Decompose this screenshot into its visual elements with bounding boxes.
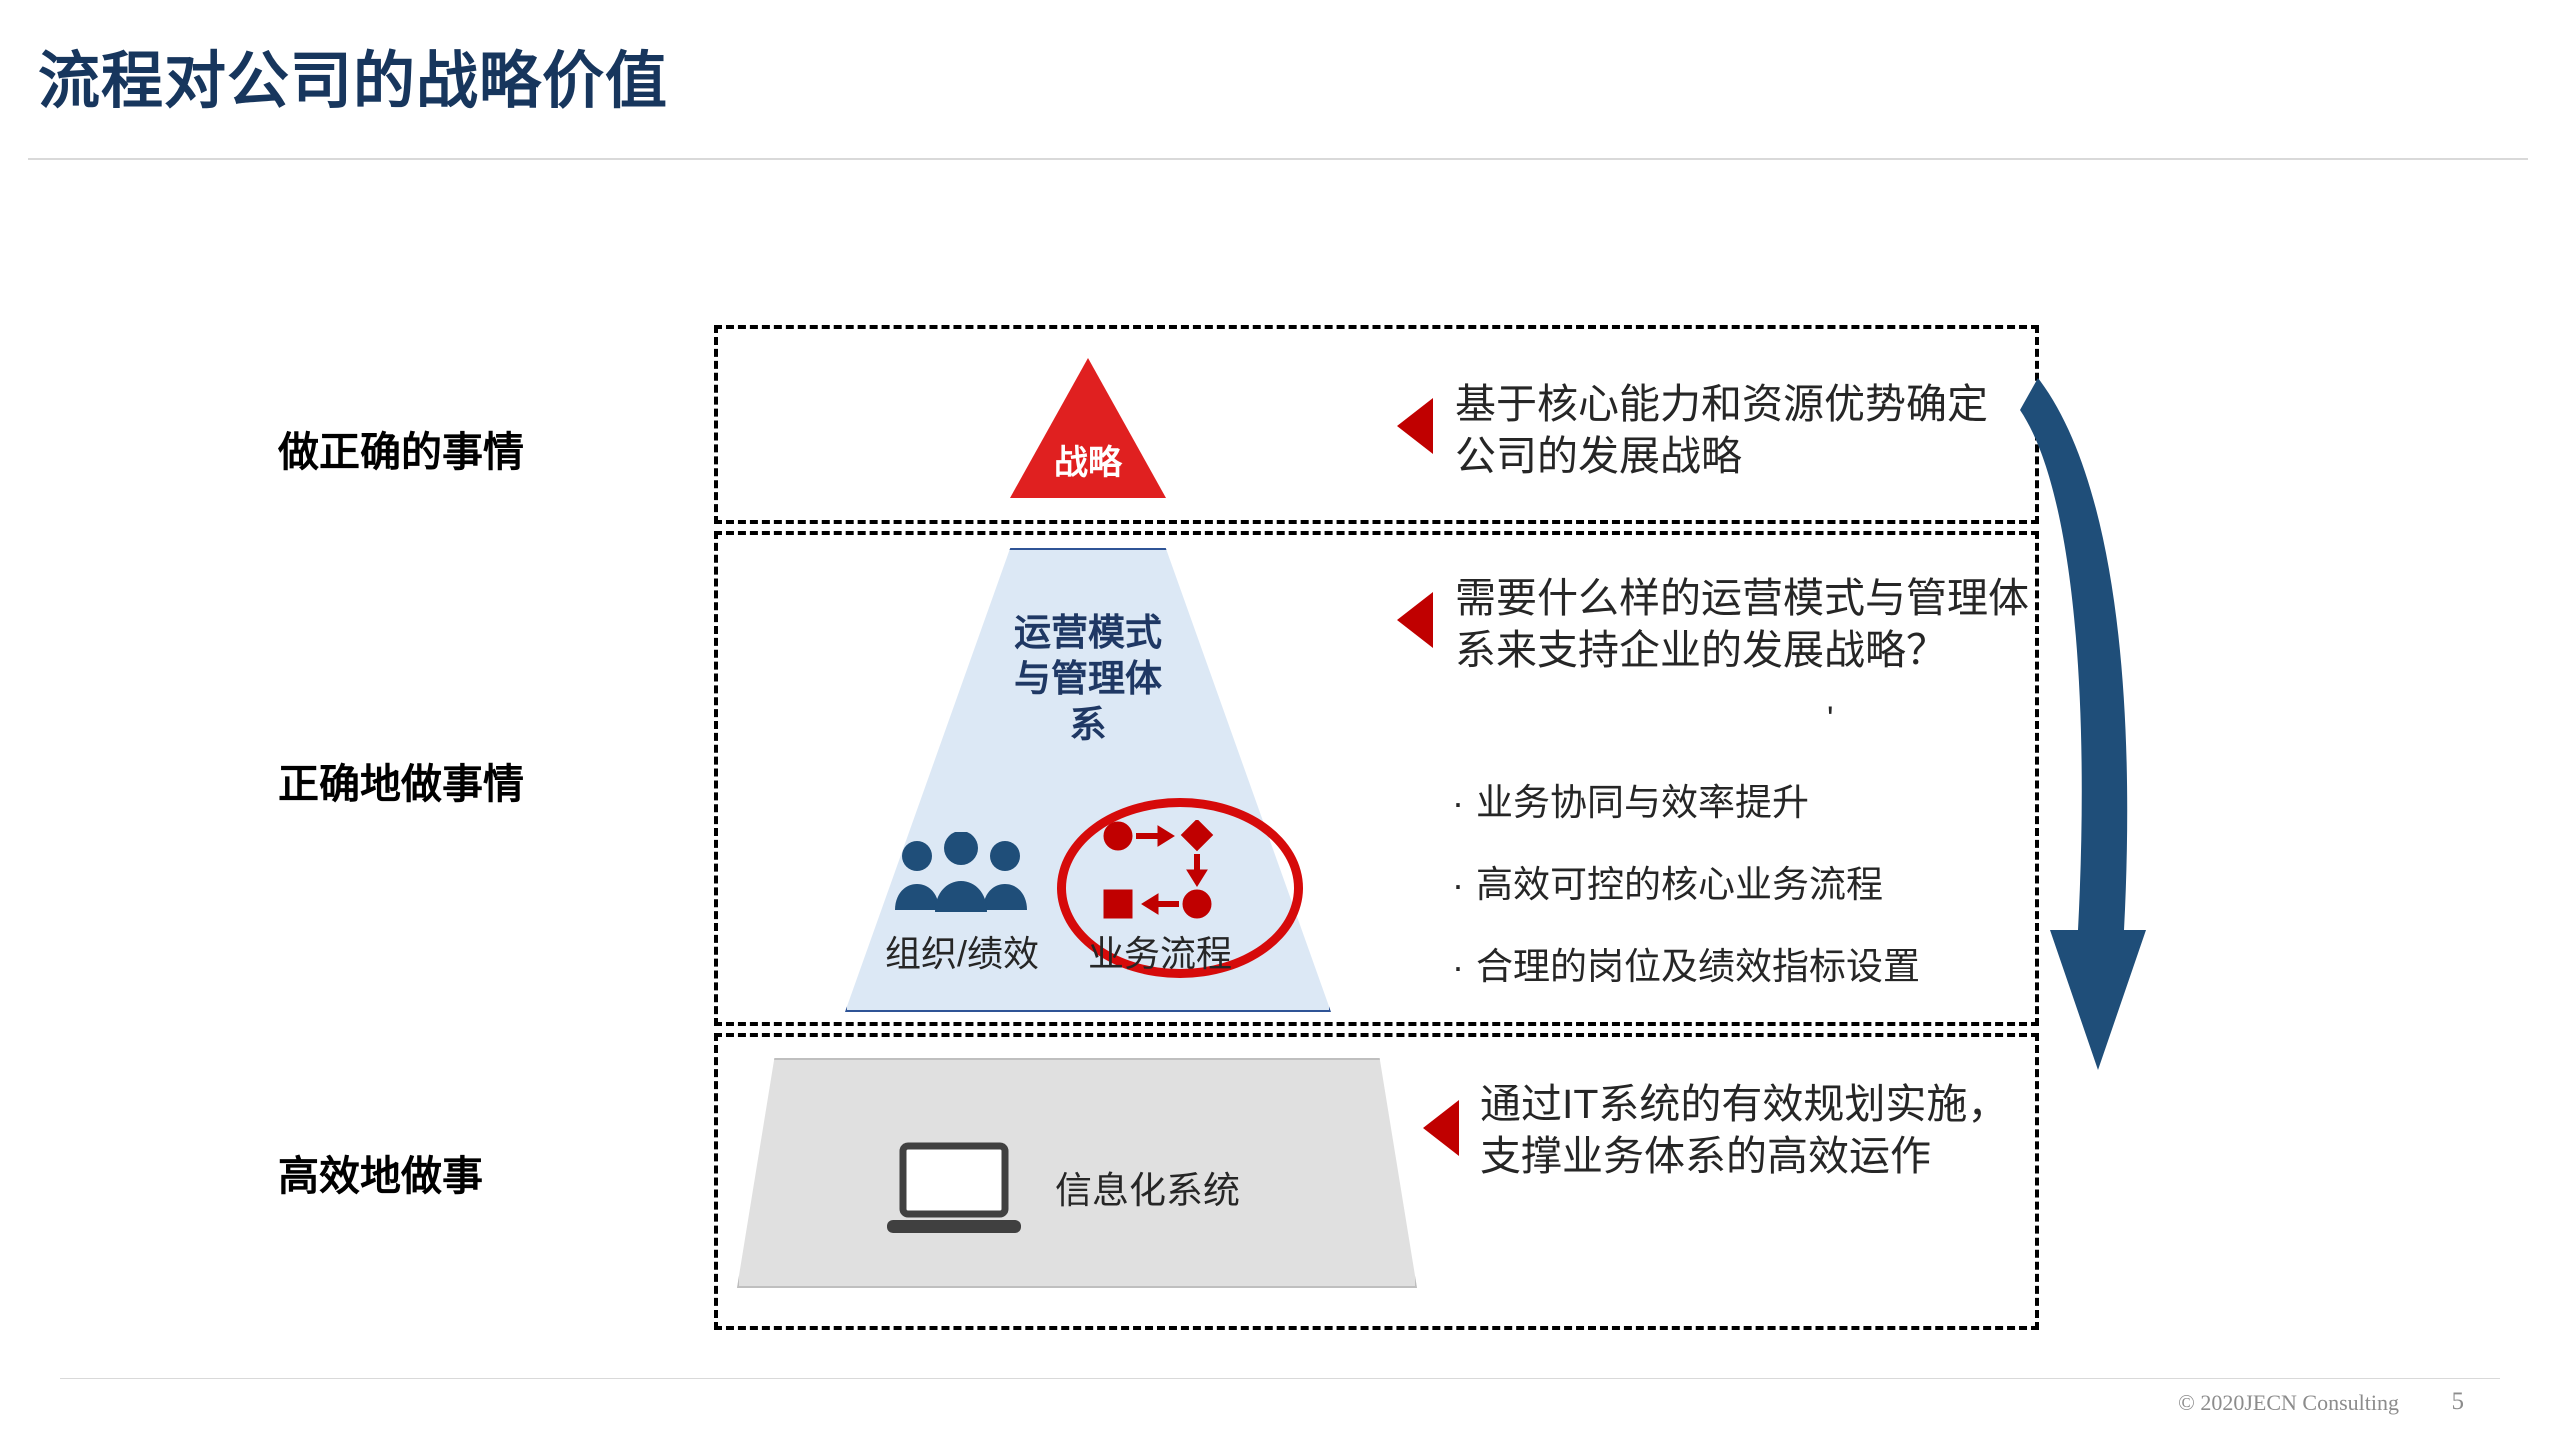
row-label-do-things-right: 正确地做事情 xyxy=(278,750,524,810)
bullet-marker: · xyxy=(1440,862,1476,908)
pyramid-tier-it-system-label: 信息化系统 xyxy=(1055,1160,1240,1214)
red-arrow-icon-strategy xyxy=(1397,398,1433,454)
description-operating-model: 需要什么样的运营模式与管理体系来支持企业的发展战略？ xyxy=(1455,572,2035,676)
red-arrow-icon-it-system xyxy=(1423,1100,1459,1156)
laptop-icon xyxy=(885,1140,1023,1244)
stray-apostrophe: ' xyxy=(1827,700,1834,739)
list-item: · 合理的岗位及绩效指标设置 xyxy=(1440,944,2040,990)
pyramid-sublabel-org-performance: 组织/绩效 xyxy=(885,925,1039,977)
bullet-marker: · xyxy=(1440,780,1476,826)
list-item: · 业务协同与效率提升 xyxy=(1440,780,2040,826)
description-it-system: 通过IT系统的有效规划实施，支撑业务体系的高效运作 xyxy=(1480,1078,2020,1182)
title-divider xyxy=(28,158,2528,160)
description-strategy: 基于核心能力和资源优势确定公司的发展战略 xyxy=(1455,378,2025,482)
pyramid-tier-operating-model-label: 运营模式与管理体系 xyxy=(975,610,1201,748)
pyramid-sublabel-business-process: 业务流程 xyxy=(1088,925,1232,977)
benefits-list: · 业务协同与效率提升 · 高效可控的核心业务流程 · 合理的岗位及绩效指标设置 xyxy=(1440,780,2040,1026)
row-label-do-things-efficiently: 高效地做事 xyxy=(278,1142,483,1202)
footer-copyright: © 2020JECN Consulting xyxy=(2178,1390,2399,1416)
bullet-label: 合理的岗位及绩效指标设置 xyxy=(1476,944,1920,990)
red-arrow-icon-operating-model xyxy=(1397,592,1433,648)
curved-down-arrow-icon xyxy=(2020,370,2150,1240)
row-label-do-right-things: 做正确的事情 xyxy=(278,418,524,478)
bullet-label: 业务协同与效率提升 xyxy=(1476,780,1809,826)
bullet-marker: · xyxy=(1440,944,1476,990)
list-item: · 高效可控的核心业务流程 xyxy=(1440,862,2040,908)
page-number: 5 xyxy=(2452,1388,2465,1416)
bullet-label: 高效可控的核心业务流程 xyxy=(1476,862,1883,908)
pyramid-tier-strategy-label: 战略 xyxy=(1010,435,1166,484)
page-title: 流程对公司的战略价值 xyxy=(38,30,668,120)
people-icon xyxy=(893,832,1029,914)
footer-divider xyxy=(60,1378,2500,1379)
